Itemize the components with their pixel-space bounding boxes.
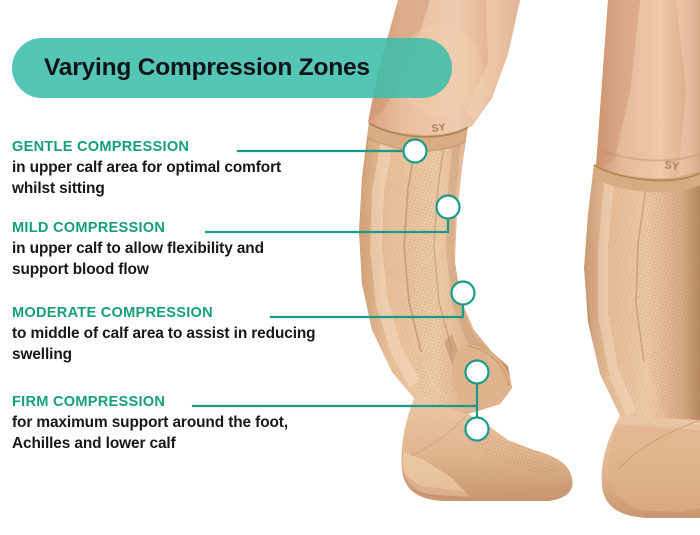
brand-mark-back: SY <box>664 159 681 173</box>
marker-gentle[interactable] <box>404 140 427 163</box>
callout-firm-heading: FIRM COMPRESSION <box>12 394 322 410</box>
title-banner: Varying Compression Zones <box>12 38 452 98</box>
page-title: Varying Compression Zones <box>44 54 370 82</box>
marker-moderate[interactable] <box>452 282 475 305</box>
marker-mild[interactable] <box>437 196 460 219</box>
callout-gentle: GENTLE COMPRESSION in upper calf area fo… <box>12 139 322 199</box>
marker-firm-upper[interactable] <box>466 361 489 384</box>
callout-firm-body: for maximum support around the foot, Ach… <box>12 413 322 454</box>
compression-zones-infographic: SY <box>0 0 700 535</box>
callout-mild: MILD COMPRESSION in upper calf to allow … <box>12 220 322 280</box>
callout-firm: FIRM COMPRESSION for maximum support aro… <box>12 394 322 454</box>
brand-mark-front: SY <box>431 121 446 135</box>
callout-gentle-body: in upper calf area for optimal comfort w… <box>12 158 322 199</box>
callout-mild-body: in upper calf to allow flexibility and s… <box>12 239 322 280</box>
callout-mild-heading: MILD COMPRESSION <box>12 220 322 236</box>
callout-gentle-heading: GENTLE COMPRESSION <box>12 139 322 155</box>
marker-firm-lower[interactable] <box>466 418 489 441</box>
callout-moderate-body: to middle of calf area to assist in redu… <box>12 324 322 365</box>
callout-moderate-heading: MODERATE COMPRESSION <box>12 305 322 321</box>
callout-moderate: MODERATE COMPRESSION to middle of calf a… <box>12 305 322 365</box>
